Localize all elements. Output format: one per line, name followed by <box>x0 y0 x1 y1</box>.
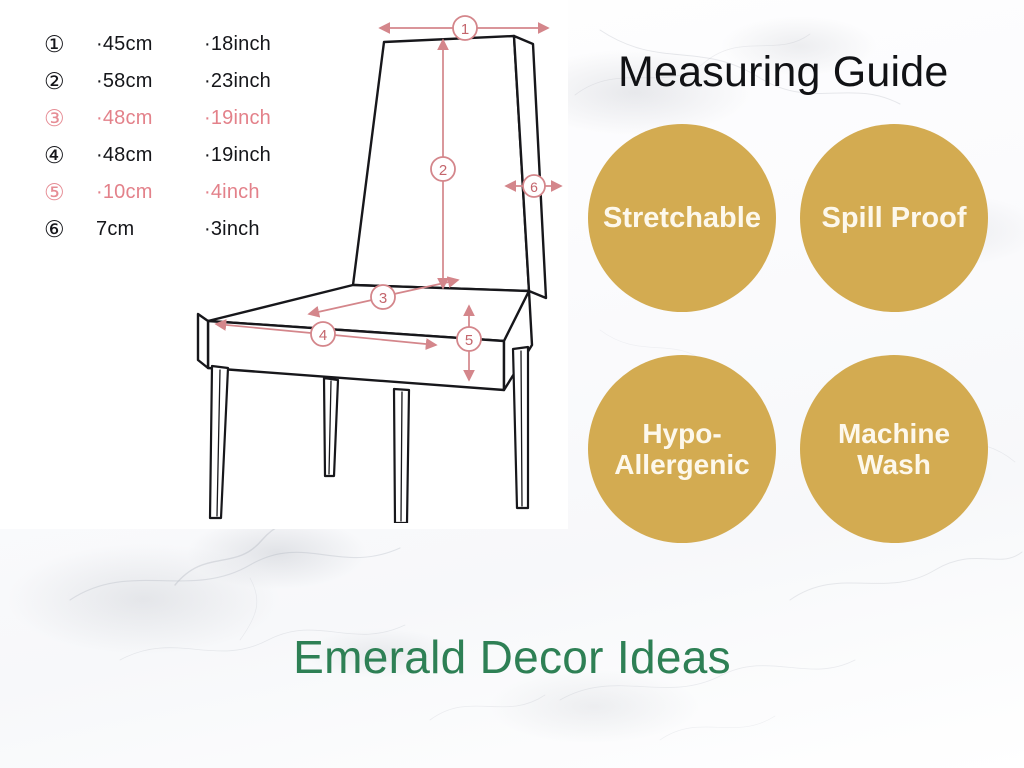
marker-5: ⑤ <box>38 181 96 204</box>
diagram-marker-5-label: 5 <box>465 332 473 349</box>
diagram-marker-1-label: 1 <box>461 21 469 38</box>
brand-name: Emerald Decor Ideas <box>0 630 1024 684</box>
marker-4: ④ <box>38 144 96 167</box>
chair-line-drawing-icon: 1 2 3 4 5 6 <box>176 8 566 523</box>
feature-label-stretchable: Stretchable <box>603 202 761 234</box>
marker-6: ⑥ <box>38 218 96 241</box>
feature-badge-spill-proof: Spill Proof <box>800 124 988 312</box>
diagram-marker-6-label: 6 <box>530 179 538 195</box>
chair-measuring-diagram-panel: ① ·45cm ·18inch ② ·58cm ·23inch ③ ·48cm … <box>0 0 568 529</box>
feature-label-machine-wash: Machine Wash <box>838 418 950 481</box>
marker-1: ① <box>38 33 96 56</box>
diagram-marker-2-label: 2 <box>439 162 447 179</box>
chair-outline <box>198 36 546 390</box>
feature-badge-machine-wash: Machine Wash <box>800 355 988 543</box>
feature-badge-hypo-allergenic: Hypo- Allergenic <box>588 355 776 543</box>
diagram-marker-4-label: 4 <box>319 327 327 344</box>
marker-3: ③ <box>38 107 96 130</box>
page-title: Measuring Guide <box>618 48 948 97</box>
feature-badge-stretchable: Stretchable <box>588 124 776 312</box>
diagram-marker-3-label: 3 <box>379 290 387 307</box>
marker-2: ② <box>38 70 96 93</box>
feature-label-spill-proof: Spill Proof <box>822 202 967 234</box>
feature-label-hypo-allergenic: Hypo- Allergenic <box>614 418 749 481</box>
